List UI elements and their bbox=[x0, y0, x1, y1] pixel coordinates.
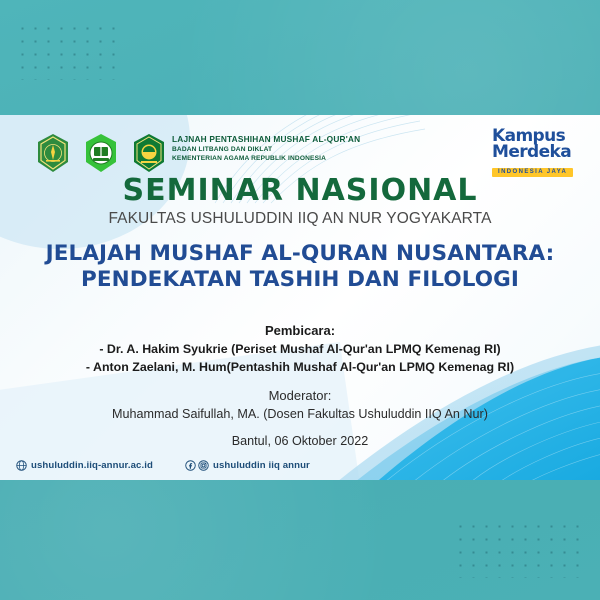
website-handle[interactable]: ushuluddin.iiq-annur.ac.id bbox=[16, 460, 153, 471]
instagram-icon bbox=[198, 460, 209, 471]
kampus-merdeka-logo: Kampus Merdeka INDONESIA JAYA bbox=[492, 129, 584, 178]
event-date: Bantul, 06 Oktober 2022 bbox=[0, 434, 600, 448]
kemenag-emblem bbox=[130, 133, 168, 173]
event-title-line-2: PENDEKATAN TASHIH DAN FILOLOGI bbox=[0, 267, 600, 293]
institution-line-3: KEMENTERIAN AGAMA REPUBLIK INDONESIA bbox=[172, 155, 360, 162]
social-text: ushuluddin iiq annur bbox=[213, 460, 310, 471]
website-text: ushuluddin.iiq-annur.ac.id bbox=[31, 460, 153, 471]
dot-pattern-bottom-right bbox=[454, 520, 584, 578]
dot-pattern-top-left bbox=[16, 22, 120, 80]
title-block: SEMINAR NASIONAL FAKULTAS USHULUDDIN IIQ… bbox=[0, 175, 600, 293]
speaker-item: - Anton Zaelani, M. Hum(Pentashih Mushaf… bbox=[0, 360, 600, 374]
moderator-name: Muhammad Saifullah, MA. (Dosen Fakultas … bbox=[0, 407, 600, 421]
lptq-emblem bbox=[82, 133, 120, 173]
poster-card: LAJNAH PENTASHIHAN MUSHAF AL-QUR'AN BADA… bbox=[0, 115, 600, 480]
iiq-an-nur-emblem bbox=[34, 133, 72, 173]
institution-line-1: LAJNAH PENTASHIHAN MUSHAF AL-QUR'AN bbox=[172, 135, 360, 144]
kampus-merdeka-word-2: Merdeka bbox=[492, 145, 584, 161]
speaker-item: - Dr. A. Hakim Syukrie (Periset Mushaf A… bbox=[0, 342, 600, 356]
seminar-poster: LAJNAH PENTASHIHAN MUSHAF AL-QUR'AN BADA… bbox=[0, 0, 600, 600]
event-details: Pembicara: - Dr. A. Hakim Syukrie (Peris… bbox=[0, 323, 600, 448]
social-icons bbox=[185, 460, 209, 471]
institution-line-2: BADAN LITBANG DAN DIKLAT bbox=[172, 146, 360, 153]
facebook-icon bbox=[185, 460, 196, 471]
page-title: SEMINAR NASIONAL bbox=[0, 175, 600, 207]
event-title: JELAJAH MUSHAF AL-QURAN NUSANTARA: PENDE… bbox=[0, 241, 600, 293]
faculty-subtitle: FAKULTAS USHULUDDIN IIQ AN NUR YOGYAKART… bbox=[0, 210, 600, 228]
emblem-svg-2 bbox=[82, 133, 120, 173]
event-title-line-1: JELAJAH MUSHAF AL-QURAN NUSANTARA: bbox=[0, 241, 600, 267]
moderator-label: Moderator: bbox=[0, 388, 600, 403]
globe-icon bbox=[16, 460, 27, 471]
social-handle[interactable]: ushuluddin iiq annur bbox=[185, 460, 310, 471]
speakers-label: Pembicara: bbox=[0, 323, 600, 338]
institution-name: LAJNAH PENTASHIHAN MUSHAF AL-QUR'AN BADA… bbox=[172, 135, 360, 162]
footer-contacts: ushuluddin.iiq-annur.ac.id us bbox=[16, 460, 310, 471]
emblem-svg-1 bbox=[34, 133, 72, 173]
emblem-svg-3 bbox=[130, 133, 168, 173]
website-icons bbox=[16, 460, 27, 471]
